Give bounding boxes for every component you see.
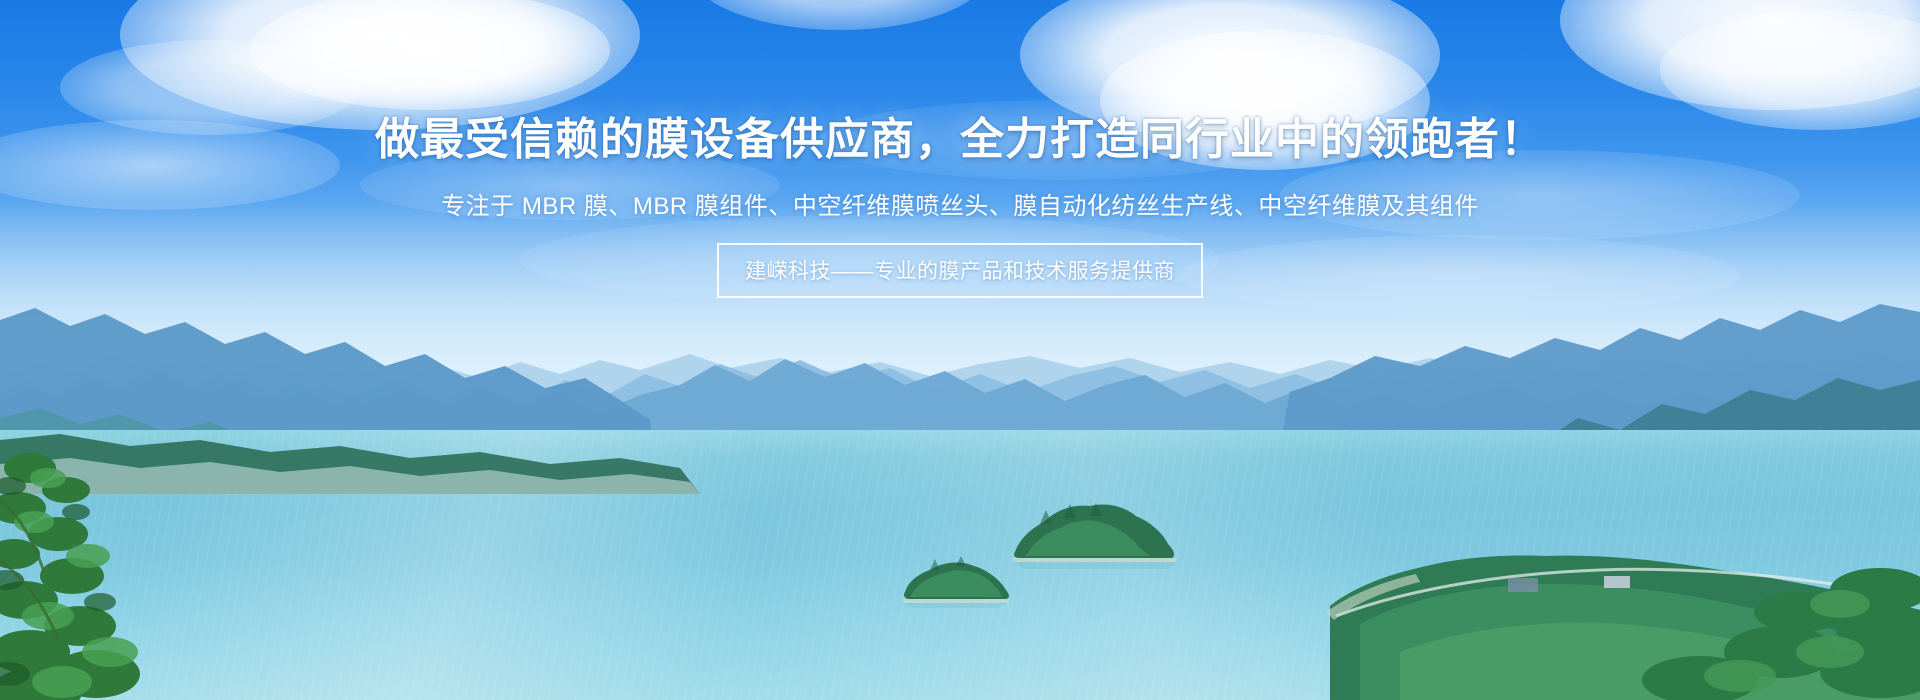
hero-banner: 做最受信赖的膜设备供应商，全力打造同行业中的领跑者！ 专注于 MBR 膜、MBR… <box>0 0 1920 700</box>
page-title: 做最受信赖的膜设备供应商，全力打造同行业中的领跑者！ <box>0 103 1920 167</box>
tagline-container: 建嵘科技——专业的膜产品和技术服务提供商 <box>0 243 1920 298</box>
hero-text-layer: 做最受信赖的膜设备供应商，全力打造同行业中的领跑者！ 专注于 MBR 膜、MBR… <box>0 0 1920 700</box>
subtitle: 专注于 MBR 膜、MBR 膜组件、中空纤维膜喷丝头、膜自动化纺丝生产线、中空纤… <box>0 186 1920 221</box>
tagline-badge: 建嵘科技——专业的膜产品和技术服务提供商 <box>717 243 1203 298</box>
